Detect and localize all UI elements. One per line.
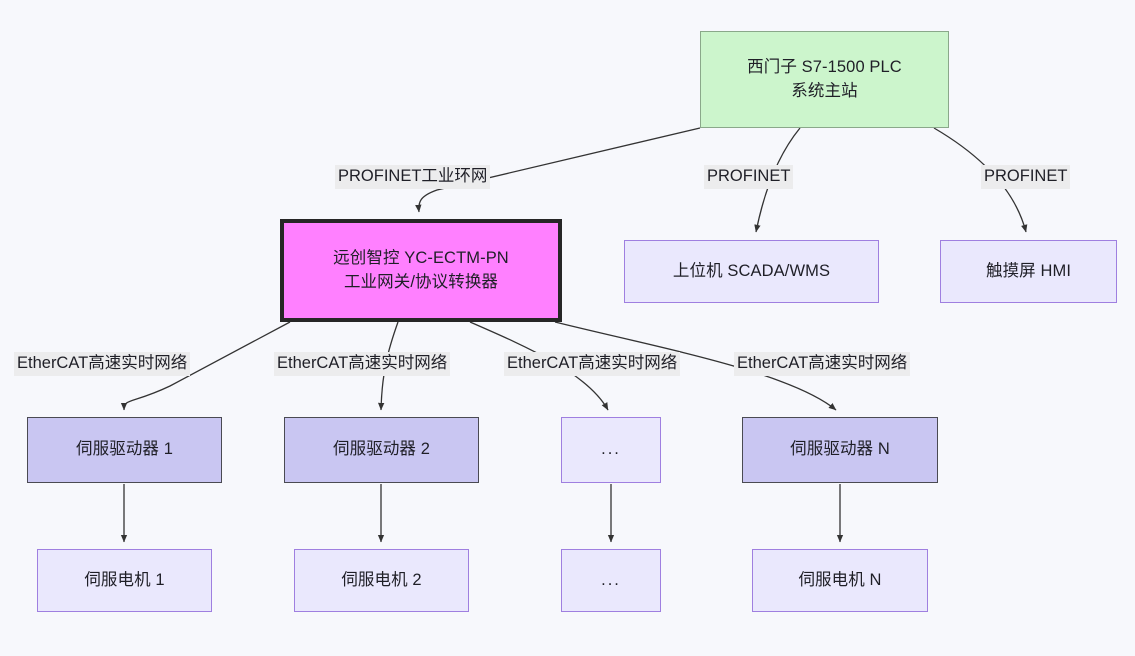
edge-label-gateway-to-driveN: EtherCAT高速实时网络 — [734, 352, 910, 376]
diagram-canvas: 西门子 S7-1500 PLC 系统主站 远创智控 YC-ECTM-PN 工业网… — [0, 0, 1135, 656]
node-plc-master[interactable]: 西门子 S7-1500 PLC 系统主站 — [700, 31, 949, 128]
node-hmi-label: 触摸屏 HMI — [986, 260, 1071, 284]
node-hmi[interactable]: 触摸屏 HMI — [940, 240, 1117, 303]
node-servo-drive-more-label: ... — [601, 438, 621, 462]
node-servo-drive-1-label: 伺服驱动器 1 — [76, 438, 173, 462]
edge-label-plc-to-scada: PROFINET — [704, 165, 793, 189]
node-servo-motor-n[interactable]: 伺服电机 N — [752, 549, 928, 612]
node-servo-motor-2-label: 伺服电机 2 — [341, 569, 421, 593]
edge-label-gateway-to-drive-more: EtherCAT高速实时网络 — [504, 352, 680, 376]
edge-label-plc-to-gateway: PROFINET工业环网 — [335, 165, 490, 189]
node-gateway-line1: 远创智控 YC-ECTM-PN — [333, 247, 509, 271]
node-servo-motor-1-label: 伺服电机 1 — [84, 569, 164, 593]
node-servo-drive-n-label: 伺服驱动器 N — [790, 438, 890, 462]
node-scada-label: 上位机 SCADA/WMS — [673, 260, 830, 284]
node-plc-line2: 系统主站 — [791, 80, 857, 104]
node-servo-motor-more[interactable]: ... — [561, 549, 661, 612]
node-servo-motor-1[interactable]: 伺服电机 1 — [37, 549, 212, 612]
node-servo-drive-n[interactable]: 伺服驱动器 N — [742, 417, 938, 483]
node-gateway[interactable]: 远创智控 YC-ECTM-PN 工业网关/协议转换器 — [280, 219, 562, 322]
node-servo-motor-n-label: 伺服电机 N — [798, 569, 881, 593]
edge-label-gateway-to-drive1: EtherCAT高速实时网络 — [14, 352, 190, 376]
node-servo-motor-2[interactable]: 伺服电机 2 — [294, 549, 469, 612]
edge-label-plc-to-hmi: PROFINET — [981, 165, 1070, 189]
node-gateway-line2: 工业网关/协议转换器 — [344, 271, 498, 295]
node-plc-line1: 西门子 S7-1500 PLC — [747, 56, 902, 80]
edge-label-gateway-to-drive2: EtherCAT高速实时网络 — [274, 352, 450, 376]
node-servo-motor-more-label: ... — [601, 569, 621, 593]
node-servo-drive-2-label: 伺服驱动器 2 — [333, 438, 430, 462]
node-servo-drive-1[interactable]: 伺服驱动器 1 — [27, 417, 222, 483]
node-servo-drive-2[interactable]: 伺服驱动器 2 — [284, 417, 479, 483]
node-servo-drive-more[interactable]: ... — [561, 417, 661, 483]
node-scada-wms[interactable]: 上位机 SCADA/WMS — [624, 240, 879, 303]
